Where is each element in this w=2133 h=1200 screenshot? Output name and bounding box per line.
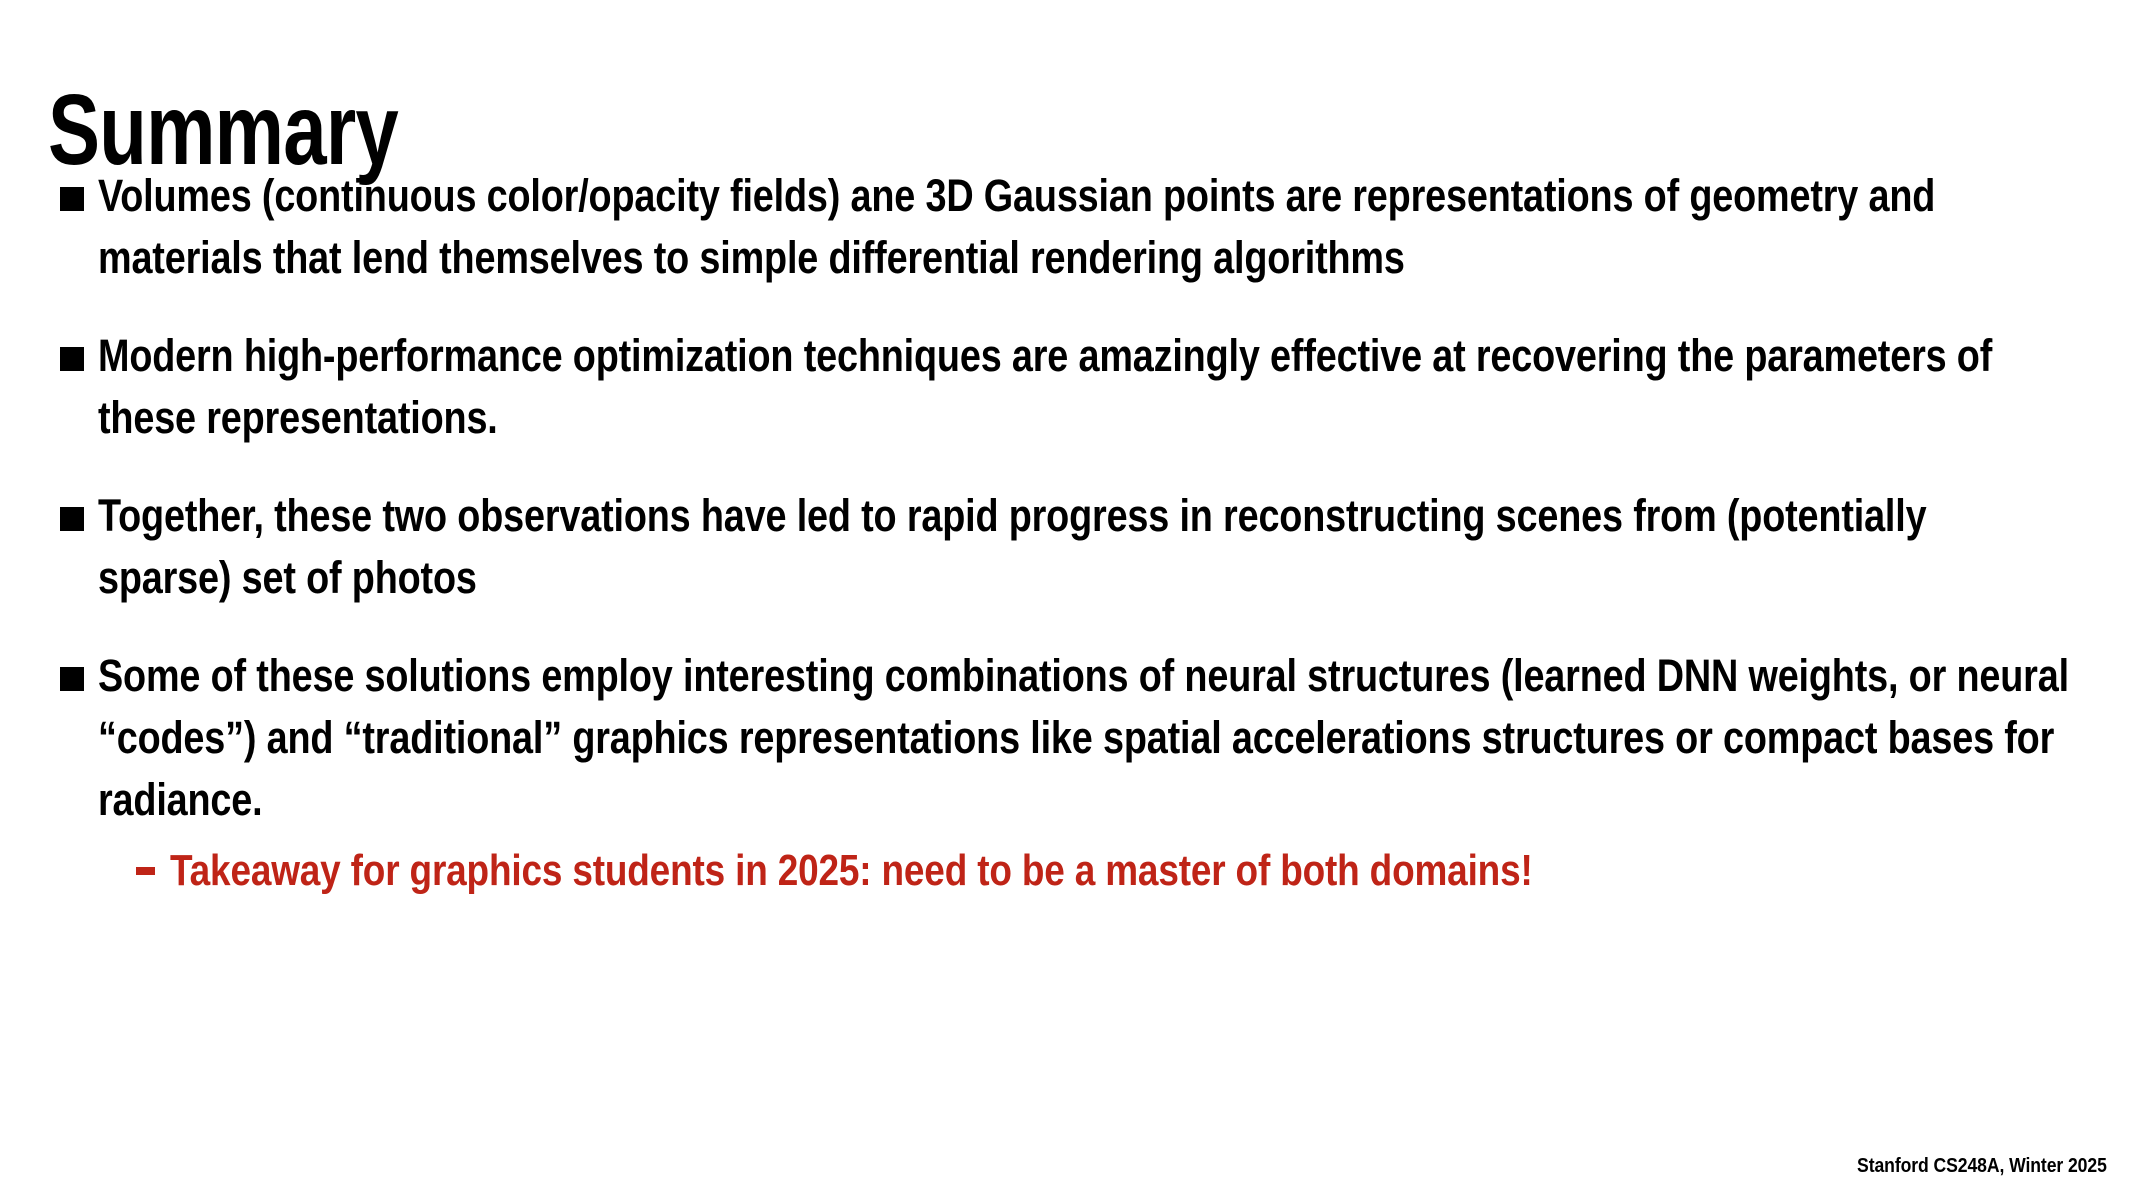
- list-item: Together, these two observations have le…: [60, 485, 2070, 609]
- list-item-label: Some of these solutions employ interesti…: [98, 645, 2069, 831]
- square-bullet-icon: [60, 667, 90, 691]
- square-bullet-icon: [60, 507, 90, 531]
- list-item-body: Modern high-performance optimization tec…: [98, 325, 2070, 449]
- list-item-label: Volumes (continuous color/opacity fields…: [98, 165, 2069, 289]
- bullet-list: Volumes (continuous color/opacity fields…: [60, 165, 2070, 937]
- sub-list-item-label: Takeaway for graphics students in 2025: …: [170, 841, 1766, 901]
- slide-footer: Stanford CS248A, Winter 2025: [1857, 1154, 2107, 1178]
- list-item: Volumes (continuous color/opacity fields…: [60, 165, 2070, 289]
- list-item: Some of these solutions employ interesti…: [60, 645, 2070, 901]
- list-item-body: Together, these two observations have le…: [98, 485, 2070, 609]
- square-bullet-icon: [60, 347, 90, 371]
- square-bullet-icon: [60, 187, 90, 211]
- slide-canvas: Summary Volumes (continuous color/opacit…: [0, 0, 2133, 1200]
- sub-list-item: Takeaway for graphics students in 2025: …: [136, 841, 2070, 901]
- list-item-body: Some of these solutions employ interesti…: [98, 645, 2070, 901]
- list-item-body: Volumes (continuous color/opacity fields…: [98, 165, 2070, 289]
- dash-bullet-icon: [136, 867, 162, 875]
- list-item-label: Together, these two observations have le…: [98, 485, 2069, 609]
- list-item: Modern high-performance optimization tec…: [60, 325, 2070, 449]
- list-item-label: Modern high-performance optimization tec…: [98, 325, 2069, 449]
